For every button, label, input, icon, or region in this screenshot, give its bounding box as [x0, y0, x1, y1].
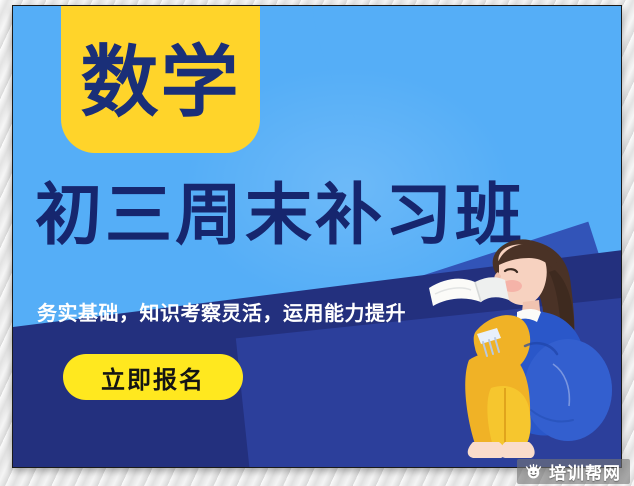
site-watermark: 培训帮网	[517, 459, 630, 484]
promo-poster: 数学 初三周末补习班 务实基础，知识考察灵活，运用能力提升 立即报名	[12, 5, 622, 468]
watermark-label: 培训帮网	[549, 459, 621, 484]
subject-badge-label: 数学	[80, 38, 240, 122]
illustration-woman-reading	[417, 238, 622, 468]
subject-badge: 数学	[61, 6, 260, 153]
signup-button[interactable]: 立即报名	[63, 354, 243, 400]
signup-button-label: 立即报名	[101, 360, 205, 395]
sun-face-icon	[524, 462, 543, 481]
poster-subtitle: 务实基础，知识考察灵活，运用能力提升	[37, 302, 406, 326]
page-backdrop: 数学 初三周末补习班 务实基础，知识考察灵活，运用能力提升 立即报名	[0, 0, 634, 486]
